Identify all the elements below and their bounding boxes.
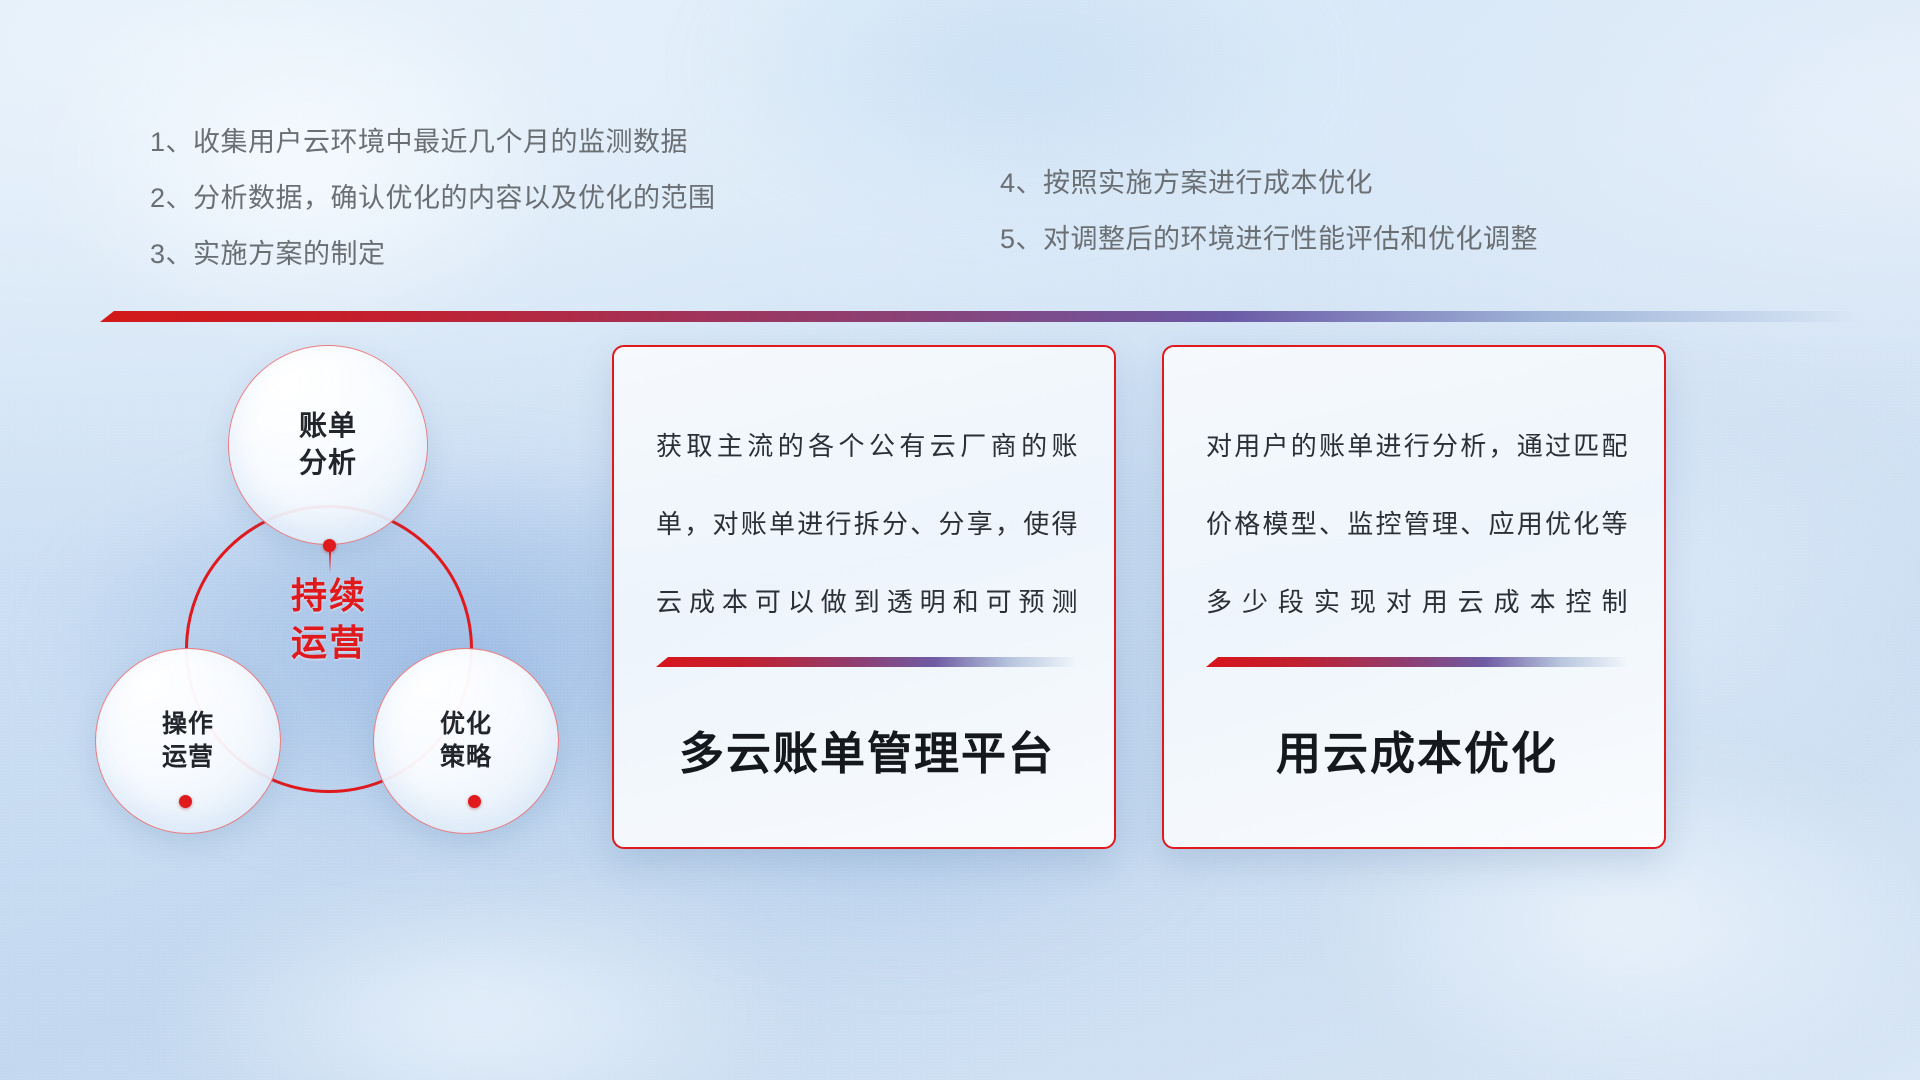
- section-divider: [100, 311, 1860, 322]
- card-divider: [656, 657, 1078, 667]
- connector-dot-left: [179, 795, 192, 808]
- node-label-line-1: 账单: [299, 408, 357, 445]
- card-multi-cloud-bill-platform[interactable]: 获取主流的各个公有云厂商的账单，对账单进行拆分、分享，使得云成本可以做到透明和可…: [612, 345, 1116, 849]
- continuous-operation-diagram: 持续 运营 账单 分析 操作 运营 优化 策略: [95, 345, 575, 925]
- step-item-2: 2、分析数据，确认优化的内容以及优化的范围: [150, 170, 716, 226]
- divider-gradient-bar: [100, 311, 1860, 322]
- diagram-node-bill-analysis[interactable]: 账单 分析: [228, 345, 428, 545]
- card-title: 用云成本优化: [1206, 717, 1628, 782]
- steps-section: 1、收集用户云环境中最近几个月的监测数据 2、分析数据，确认优化的内容以及优化的…: [0, 0, 1920, 300]
- card-divider-bar: [1206, 657, 1628, 667]
- card-cloud-cost-optimization[interactable]: 对用户的账单进行分析，通过匹配价格模型、监控管理、应用优化等多少段实现对用云成本…: [1162, 345, 1666, 849]
- diagram-center-label: 持续 运营: [185, 573, 473, 667]
- card-title: 多云账单管理平台: [656, 717, 1078, 782]
- connector-dot-top: [323, 539, 336, 552]
- node-label-line-1: 优化: [440, 708, 492, 741]
- steps-left-column: 1、收集用户云环境中最近几个月的监测数据 2、分析数据，确认优化的内容以及优化的…: [150, 114, 716, 282]
- node-label: 操作 运营: [162, 708, 214, 774]
- step-item-3: 3、实施方案的制定: [150, 226, 716, 282]
- node-label-line-2: 运营: [162, 741, 214, 774]
- card-body-text: 获取主流的各个公有云厂商的账单，对账单进行拆分、分享，使得云成本可以做到透明和可…: [656, 407, 1078, 641]
- node-label-line-2: 策略: [440, 741, 492, 774]
- node-label-line-1: 操作: [162, 708, 214, 741]
- center-label-line-1: 持续: [185, 573, 473, 620]
- steps-right-column: 4、按照实施方案进行成本优化 5、对调整后的环境进行性能评估和优化调整: [1000, 155, 1538, 267]
- node-label-line-2: 分析: [299, 445, 357, 482]
- node-label: 账单 分析: [299, 408, 357, 482]
- card-divider: [1206, 657, 1628, 667]
- node-label: 优化 策略: [440, 708, 492, 774]
- connector-dot-right: [468, 795, 481, 808]
- card-body-text: 对用户的账单进行分析，通过匹配价格模型、监控管理、应用优化等多少段实现对用云成本…: [1206, 407, 1628, 641]
- diagram-node-optimization-strategy[interactable]: 优化 策略: [373, 648, 559, 834]
- step-item-5: 5、对调整后的环境进行性能评估和优化调整: [1000, 211, 1538, 267]
- step-item-4: 4、按照实施方案进行成本优化: [1000, 155, 1538, 211]
- connector-stem-top: [329, 551, 331, 573]
- step-item-1: 1、收集用户云环境中最近几个月的监测数据: [150, 114, 716, 170]
- card-divider-bar: [656, 657, 1078, 667]
